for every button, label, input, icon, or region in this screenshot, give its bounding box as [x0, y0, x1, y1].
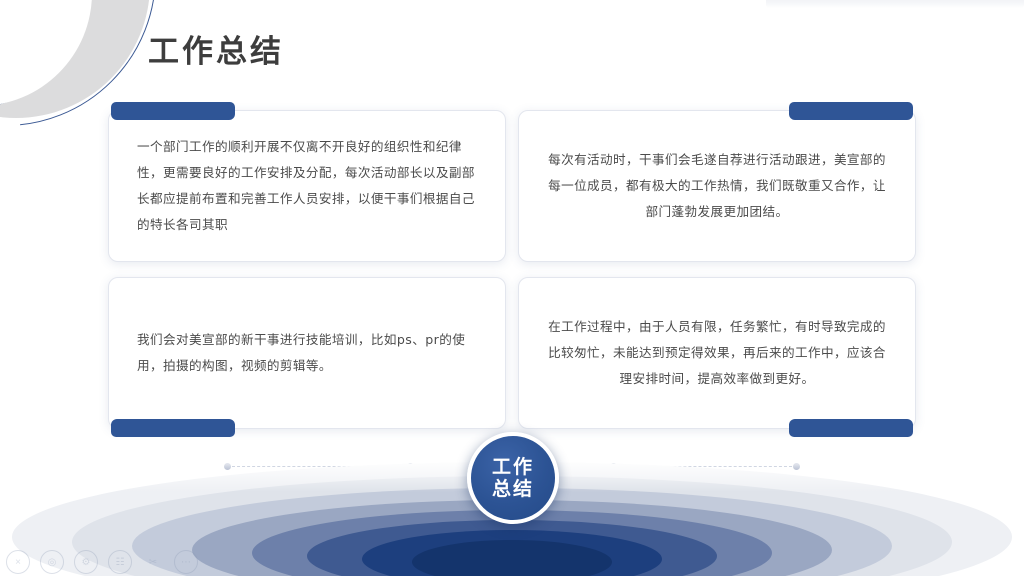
- card-body: 我们会对美宣部的新干事进行技能培训，比如ps、pr的使用，拍摄的构图，视频的剪辑…: [109, 278, 505, 428]
- badge-line-1: 工作: [492, 456, 534, 478]
- grid-icon: ☷: [108, 550, 132, 574]
- card-body: 一个部门工作的顺利开展不仅离不开良好的组织性和纪律性，更需要良好的工作安排及分配…: [109, 111, 505, 261]
- close-icon: ×: [6, 550, 30, 574]
- corner-blue-crescent-shape: [0, 0, 90, 108]
- card-text: 在工作过程中，由于人员有限，任务繁忙，有时导致完成的比较匆忙，未能达到预定得效果…: [547, 314, 887, 391]
- gear-icon: ⚙: [74, 550, 98, 574]
- content-card-top-right[interactable]: 每次有活动时，干事们会毛遂自荐进行活动跟进，美宣部的每一位成员，都有极大的工作热…: [518, 110, 916, 262]
- scissors-icon: ✂: [142, 551, 164, 573]
- card-body: 在工作过程中，由于人员有限，任务繁忙，有时导致完成的比较匆忙，未能达到预定得效果…: [519, 278, 915, 428]
- card-body: 每次有活动时，干事们会毛遂自荐进行活动跟进，美宣部的每一位成员，都有极大的工作热…: [519, 111, 915, 261]
- card-text: 我们会对美宣部的新干事进行技能培训，比如ps、pr的使用，拍摄的构图，视频的剪辑…: [137, 327, 477, 379]
- target-icon: ◎: [40, 550, 64, 574]
- card-text: 一个部门工作的顺利开展不仅离不开良好的组织性和纪律性，更需要良好的工作安排及分配…: [137, 134, 477, 237]
- card-text: 每次有活动时，干事们会毛遂自荐进行活动跟进，美宣部的每一位成员，都有极大的工作热…: [547, 147, 887, 224]
- center-circle-badge[interactable]: 工作 总结: [467, 432, 559, 524]
- content-card-bottom-right[interactable]: 在工作过程中，由于人员有限，任务繁忙，有时导致完成的比较匆忙，未能达到预定得效果…: [518, 277, 916, 429]
- slide-canvas: 工作总结 一个部门工作的顺利开展不仅离不开良好的组织性和纪律性，更需要良好的工作…: [0, 0, 1024, 576]
- content-card-top-left[interactable]: 一个部门工作的顺利开展不仅离不开良好的组织性和纪律性，更需要良好的工作安排及分配…: [108, 110, 506, 262]
- content-card-bottom-left[interactable]: 我们会对美宣部的新干事进行技能培训，比如ps、pr的使用，拍摄的构图，视频的剪辑…: [108, 277, 506, 429]
- ripple-ring: [412, 540, 612, 576]
- corner-white-overlay-shape: [0, 0, 92, 106]
- corner-gray-blob-shape: [0, 0, 150, 118]
- page-title: 工作总结: [148, 26, 284, 71]
- watermark-icon-row: × ◎ ⚙ ☷ ✂ ⋯: [6, 550, 198, 574]
- badge-line-2: 总结: [492, 478, 534, 500]
- more-icon: ⋯: [174, 550, 198, 574]
- top-right-band-shape: [766, 0, 1024, 8]
